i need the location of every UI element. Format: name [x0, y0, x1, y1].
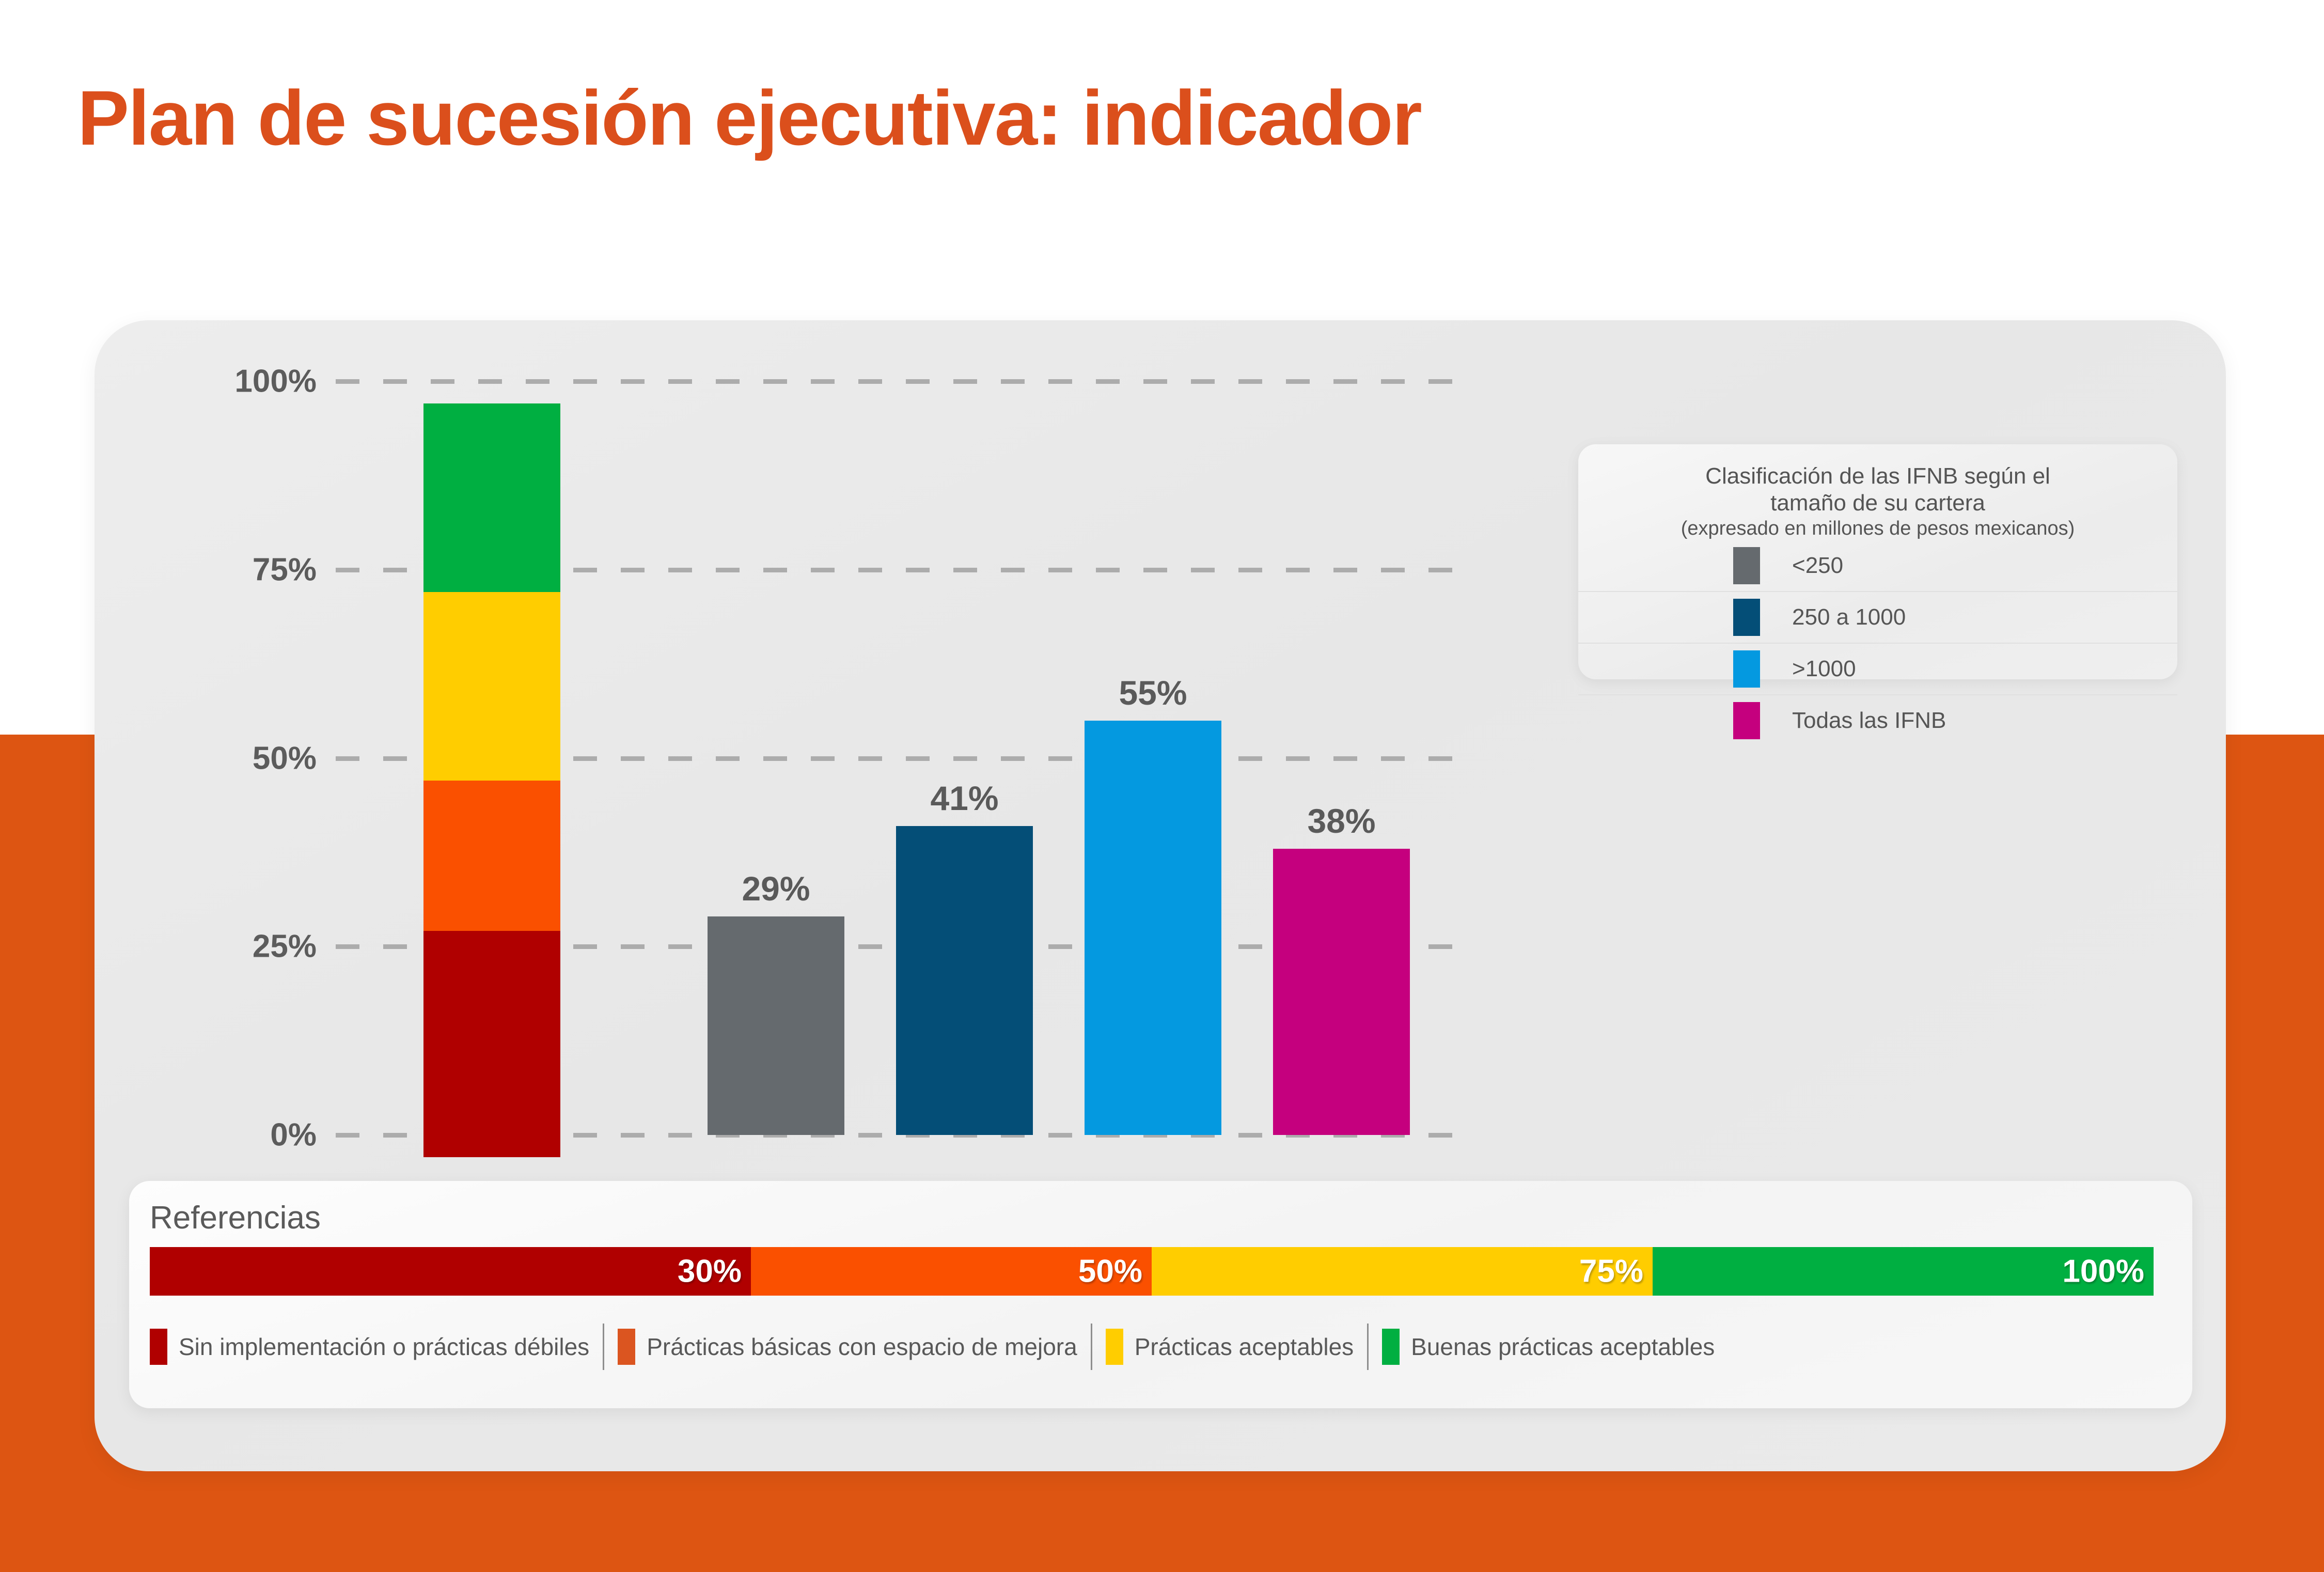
legend-color-swatch-icon — [1733, 599, 1760, 636]
legend-divider — [1091, 1324, 1092, 1370]
legend-item-label: <250 — [1792, 553, 1843, 579]
reference-legend-label: Prácticas básicas con espacio de mejora — [647, 1333, 1077, 1361]
legend-color-swatch-icon — [1733, 702, 1760, 739]
references-card: Referencias 30%50%75%100% Sin implementa… — [129, 1181, 2192, 1408]
page-title: Plan de sucesión ejecutiva: indicador — [77, 77, 1421, 159]
reference-bar-segment — [423, 403, 560, 592]
legend-color-swatch-icon — [1733, 547, 1760, 584]
bar-value-label: 38% — [1307, 801, 1375, 841]
data-bar[interactable] — [1085, 721, 1221, 1135]
reference-color-swatch-icon — [618, 1329, 635, 1365]
series-legend-card: Clasificación de las IFNB según el tamañ… — [1578, 444, 2177, 679]
scale-segment-value: 75% — [1579, 1253, 1643, 1290]
reference-legend-label: Sin implementación o prácticas débiles — [179, 1333, 589, 1361]
legend-rows: <250250 a 1000>1000Todas las IFNB — [1578, 540, 2177, 746]
data-bar[interactable] — [1273, 849, 1410, 1135]
y-axis-tick-label: 25% — [95, 928, 317, 965]
legend-subtitle: (expresado en millones de pesos mexicano… — [1578, 517, 2177, 540]
scale-segment-value: 50% — [1078, 1253, 1142, 1290]
bar-value-label: 55% — [1119, 673, 1187, 712]
grid-line — [336, 379, 1472, 384]
reference-legend-item[interactable]: Buenas prácticas aceptables — [1382, 1329, 1715, 1365]
legend-item[interactable]: <250 — [1578, 540, 2177, 591]
bar-value-label: 29% — [742, 869, 810, 908]
scale-segment: 50% — [751, 1247, 1152, 1296]
legend-title-line1: Clasificación de las IFNB según el — [1705, 463, 2050, 489]
legend-title: Clasificación de las IFNB según el tamañ… — [1578, 444, 2177, 517]
y-axis-tick-label: 75% — [95, 551, 317, 588]
reference-scale-legend: Sin implementación o prácticas débilesPr… — [150, 1318, 2154, 1375]
legend-color-swatch-icon — [1733, 650, 1760, 688]
scale-segment-value: 100% — [2062, 1253, 2144, 1290]
scale-segment: 30% — [150, 1247, 751, 1296]
reference-stacked-bar — [423, 403, 560, 1157]
reference-color-swatch-icon — [150, 1329, 167, 1365]
legend-item[interactable]: 250 a 1000 — [1578, 591, 2177, 643]
scale-segment-value: 30% — [678, 1253, 742, 1290]
data-bar[interactable] — [708, 916, 844, 1135]
legend-item[interactable]: Todas las IFNB — [1578, 694, 2177, 746]
references-title: Referencias — [150, 1200, 321, 1236]
data-bar[interactable] — [896, 826, 1033, 1135]
reference-bar-segment — [423, 592, 560, 781]
legend-item-label: >1000 — [1792, 656, 1856, 682]
reference-legend-item[interactable]: Prácticas básicas con espacio de mejora — [618, 1329, 1077, 1365]
scale-segment: 100% — [1653, 1247, 2154, 1296]
legend-item-label: Todas las IFNB — [1792, 708, 1946, 734]
y-axis-tick-label: 100% — [95, 363, 317, 400]
chart-panel: 0%25%50%75%100%29%41%55%38% Clasificació… — [95, 320, 2226, 1471]
legend-divider — [603, 1324, 604, 1370]
y-axis-tick-label: 0% — [95, 1117, 317, 1154]
reference-bar-segment — [423, 931, 560, 1157]
reference-color-swatch-icon — [1382, 1329, 1400, 1365]
reference-legend-item[interactable]: Sin implementación o prácticas débiles — [150, 1329, 589, 1365]
scale-segment: 75% — [1152, 1247, 1653, 1296]
reference-scale-bar: 30%50%75%100% — [150, 1247, 2154, 1296]
legend-item-label: 250 a 1000 — [1792, 604, 1906, 630]
reference-color-swatch-icon — [1106, 1329, 1123, 1365]
reference-legend-label: Buenas prácticas aceptables — [1411, 1333, 1715, 1361]
y-axis-tick-label: 50% — [95, 740, 317, 776]
legend-title-line2: tamaño de su cartera — [1770, 490, 1985, 516]
legend-divider — [1367, 1324, 1369, 1370]
reference-legend-item[interactable]: Prácticas aceptables — [1106, 1329, 1354, 1365]
reference-bar-segment — [423, 781, 560, 931]
bar-value-label: 41% — [930, 779, 998, 818]
reference-legend-label: Prácticas aceptables — [1135, 1333, 1354, 1361]
legend-item[interactable]: >1000 — [1578, 643, 2177, 694]
